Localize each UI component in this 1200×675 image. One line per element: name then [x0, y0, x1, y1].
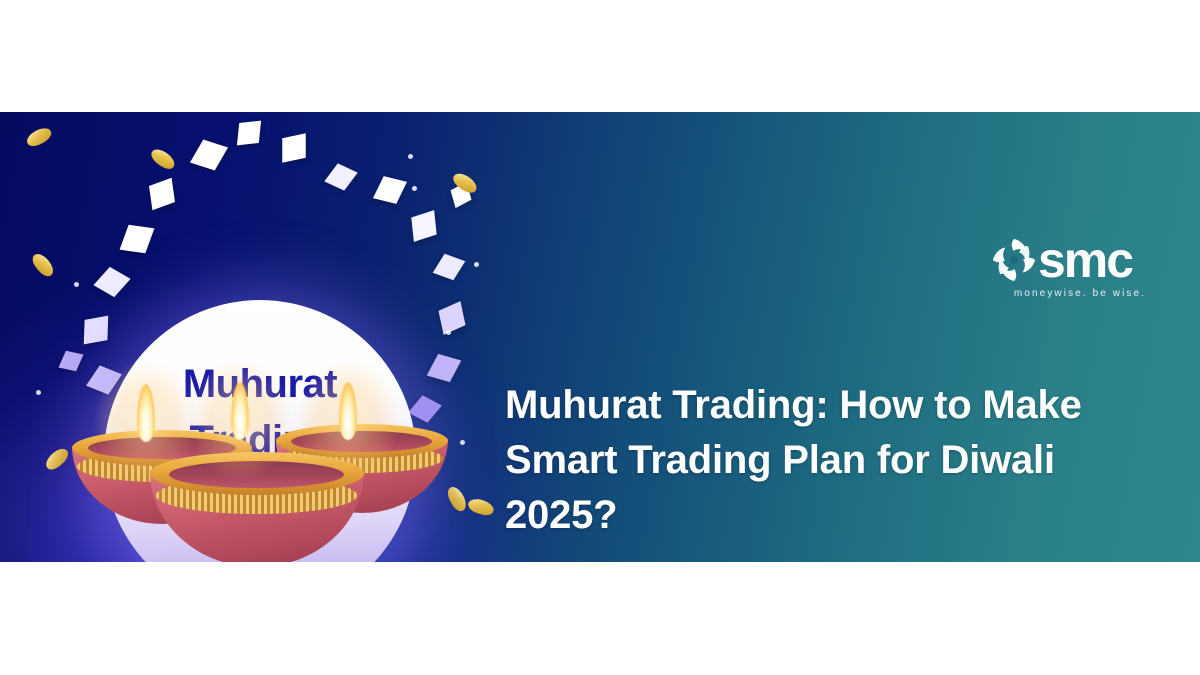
- confetti-ribbon: [29, 251, 56, 280]
- smc-tagline: moneywise. be wise.: [992, 288, 1168, 299]
- confetti-diamond: [373, 176, 407, 204]
- confetti-ribbon: [445, 484, 470, 514]
- confetti-diamond: [190, 139, 228, 170]
- confetti-ribbon: [43, 445, 72, 473]
- confetti-dot: [412, 186, 417, 191]
- confetti-diamond: [282, 133, 305, 163]
- confetti-dot: [460, 440, 465, 445]
- diwali-banner: Muhurat Trading Muhurat Trading: How to …: [0, 112, 1200, 562]
- confetti-diamond: [93, 267, 130, 297]
- confetti-diamond: [324, 163, 357, 190]
- confetti-diamond: [84, 316, 108, 345]
- smc-pinwheel-icon: [990, 236, 1038, 284]
- confetti-ribbon: [466, 496, 495, 517]
- confetti-diamond: [411, 210, 436, 242]
- page-root: Muhurat Trading Muhurat Trading: How to …: [0, 0, 1200, 675]
- confetti-diamond: [427, 354, 462, 382]
- confetti-diamond: [237, 121, 261, 146]
- confetti-dot: [446, 330, 451, 335]
- confetti-diamond: [58, 351, 83, 372]
- confetti-dot: [74, 282, 79, 287]
- smc-wordmark: smc: [1038, 234, 1132, 286]
- confetti-diamond: [149, 178, 175, 211]
- smc-logo[interactable]: smc moneywise. be wise.: [990, 234, 1170, 306]
- page-title: Muhurat Trading: How to Make Smart Tradi…: [505, 378, 1170, 543]
- confetti-diamond: [433, 254, 466, 281]
- confetti-dot: [36, 390, 41, 395]
- confetti-ribbon: [24, 125, 54, 150]
- confetti-dot: [408, 154, 413, 159]
- confetti-diamond: [438, 301, 465, 335]
- confetti-diamond: [120, 225, 155, 254]
- confetti-dot: [474, 262, 479, 267]
- confetti-ribbon: [148, 146, 177, 173]
